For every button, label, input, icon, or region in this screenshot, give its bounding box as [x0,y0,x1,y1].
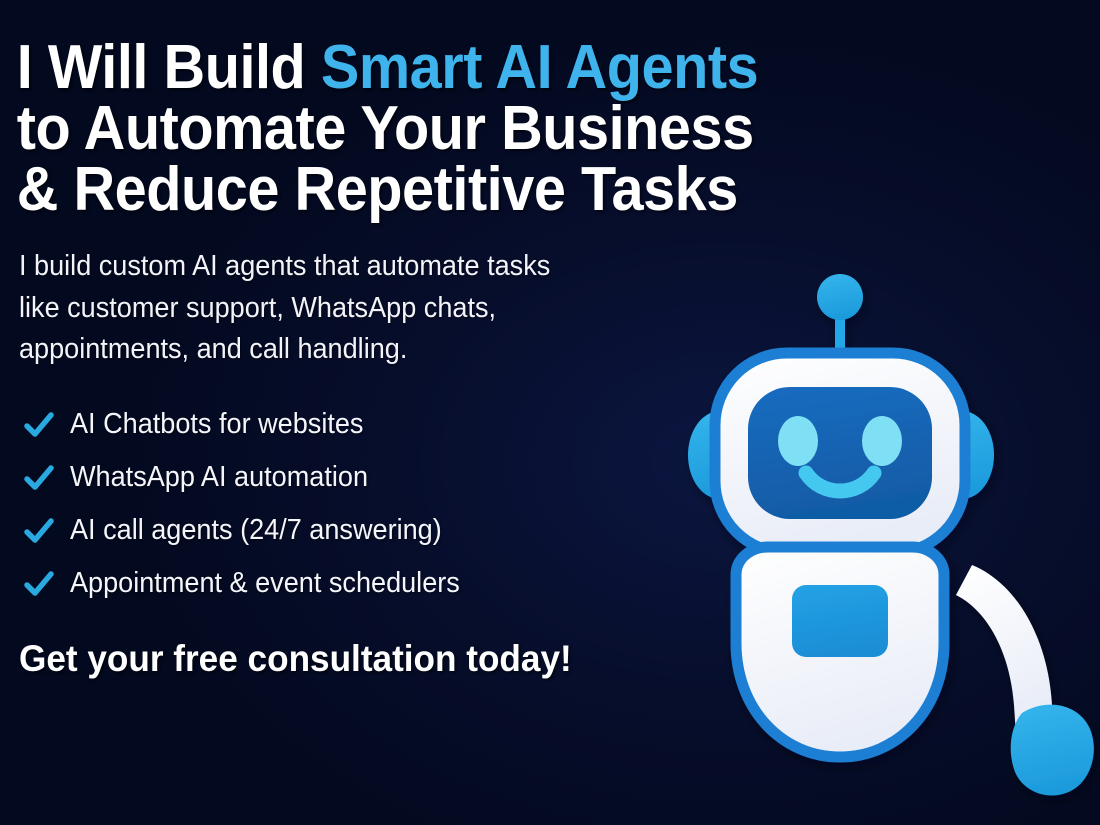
headline-line-3: & Reduce Repetitive Tasks [17,160,651,221]
right-eye [862,416,902,466]
robot-mascot-illustration [680,265,1100,825]
subcopy-line-1: I build custom AI agents that automate t… [19,246,665,287]
check-icon [22,514,56,548]
list-item: AI Chatbots for websites [22,398,700,451]
check-icon [22,461,56,495]
subcopy: I build custom AI agents that automate t… [0,220,665,370]
right-hand [1011,705,1094,796]
headline-line-1: I Will Build Smart AI Agents [17,38,651,99]
check-icon [22,567,56,601]
headline-line-1-accent: Smart AI Agents [321,33,758,102]
headline-line-1-plain: I Will Build [17,33,321,102]
feature-list: AI Chatbots for websites WhatsApp AI aut… [0,370,700,610]
list-item-label: AI Chatbots for websites [70,408,363,441]
subcopy-line-2: like customer support, WhatsApp chats, [19,288,665,329]
list-item-label: AI call agents (24/7 answering) [70,514,442,547]
list-item-label: Appointment & event schedulers [70,567,460,600]
face-screen [748,387,932,519]
list-item: WhatsApp AI automation [22,451,700,504]
page-title: I Will Build Smart AI Agents to Automate… [0,0,651,220]
list-item: Appointment & event schedulers [22,557,700,610]
left-eye [778,416,818,466]
chest-panel [792,585,888,657]
check-icon [22,408,56,442]
cta-text: Get your free consultation today! [0,610,665,680]
list-item-label: WhatsApp AI automation [70,461,368,494]
promo-banner: I Will Build Smart AI Agents to Automate… [0,0,1100,825]
headline-line-2: to Automate Your Business [17,99,651,160]
copy-column: I Will Build Smart AI Agents to Automate… [0,0,700,680]
subcopy-line-3: appointments, and call handling. [19,329,665,370]
list-item: AI call agents (24/7 answering) [22,504,700,557]
